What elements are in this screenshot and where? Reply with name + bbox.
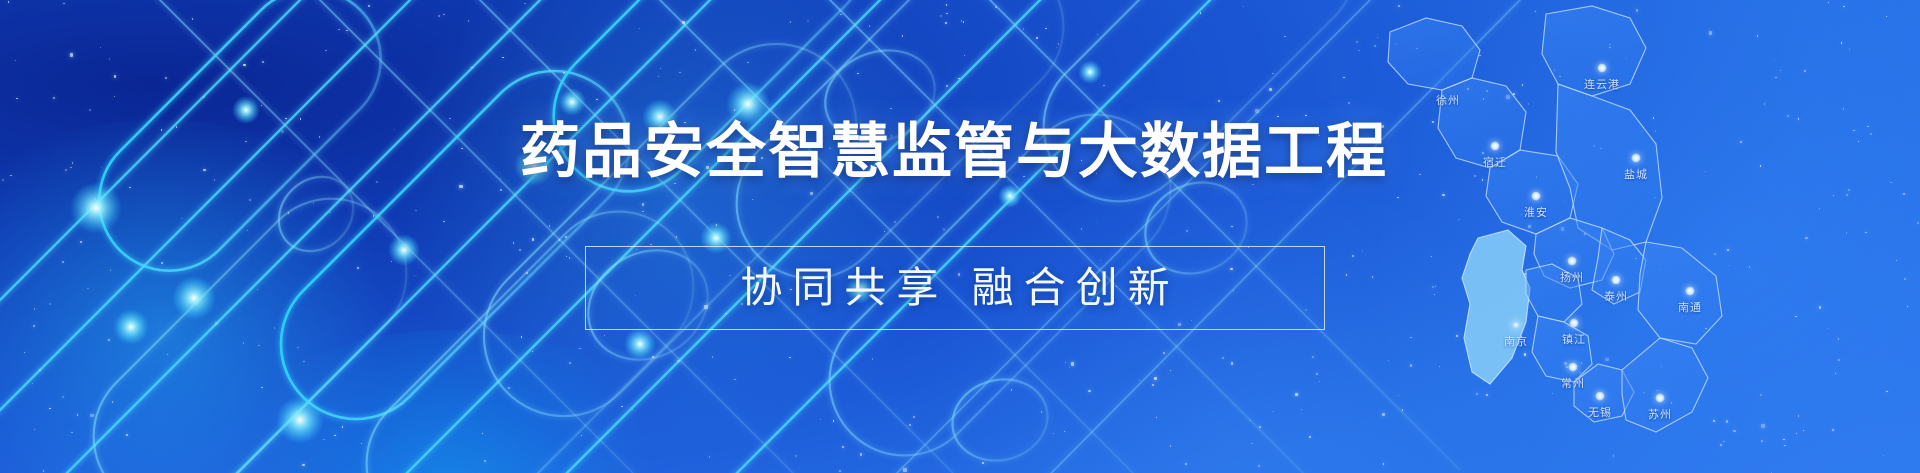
subtitle-frame: 协同共享 融合创新 xyxy=(585,246,1325,330)
page-title: 药品安全智慧监管与大数据工程 xyxy=(520,122,1388,182)
hero-banner: 连云港徐州宿迁盐城淮安扬州泰州南通南京镇江常州无锡苏州 药品安全智慧监管与大数据… xyxy=(0,0,1920,473)
banner-copy: 药品安全智慧监管与大数据工程 协同共享 融合创新 xyxy=(0,0,1920,473)
page-subtitle: 协同共享 融合创新 xyxy=(730,267,1179,309)
